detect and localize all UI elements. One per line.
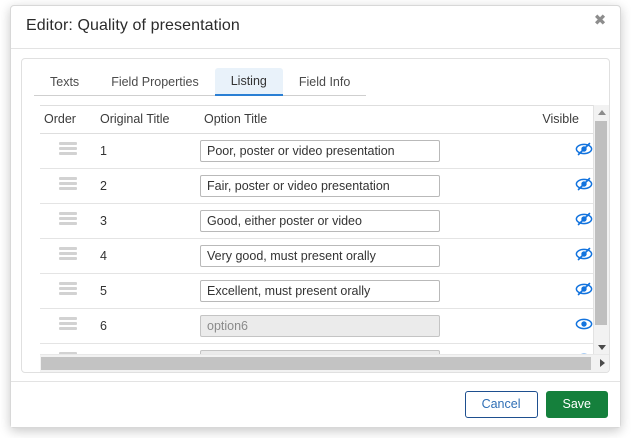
eye-slash-icon[interactable] [575,282,593,301]
drag-handle-icon[interactable] [59,313,77,334]
options-table: Order Original Title Option Title Visibl… [40,105,593,354]
option-title-cell [200,204,517,239]
dialog-title: Editor: Quality of presentation [26,17,240,35]
header-original-title: Original Title [96,106,200,134]
option-title-cell [200,309,517,344]
eye-icon[interactable] [575,317,593,336]
save-button[interactable]: Save [546,391,609,419]
original-title-cell: 3 [96,204,200,239]
scroll-right-icon[interactable] [600,359,605,367]
original-title-value: 6 [96,319,200,333]
table-row: 7 [40,344,593,355]
drag-handle-icon[interactable] [59,208,77,229]
cancel-button[interactable]: Cancel [465,391,538,419]
table-header-row: Order Original Title Option Title Visibl… [40,106,593,134]
option-title-input[interactable] [200,210,440,232]
header-order: Order [40,106,96,134]
visible-cell [517,309,593,344]
visible-cell [517,239,593,274]
original-title-cell: 4 [96,239,200,274]
visible-cell [517,274,593,309]
drag-handle-cell [40,344,96,355]
horizontal-scroll-thumb[interactable] [41,357,591,370]
tab-texts[interactable]: Texts [34,69,95,96]
tab-panel: Texts Field Properties Listing Field Inf… [21,58,610,373]
vertical-scrollbar[interactable] [593,105,609,354]
listing-table-region: Order Original Title Option Title Visibl… [22,105,609,354]
header-visible: Visible [517,106,593,134]
option-title-input[interactable] [200,315,440,337]
table-row: 3 [40,204,593,239]
options-table-body: 1234567 [40,134,593,355]
dialog-body: Texts Field Properties Listing Field Inf… [11,49,620,381]
original-title-value: 4 [96,249,200,263]
table-row: 5 [40,274,593,309]
visible-cell [517,134,593,169]
visible-cell [517,204,593,239]
option-title-cell [200,169,517,204]
drag-handle-cell [40,204,96,239]
drag-handle-cell [40,309,96,344]
option-title-input[interactable] [200,245,440,267]
option-title-input[interactable] [200,140,440,162]
table-row: 4 [40,239,593,274]
tab-listing[interactable]: Listing [215,68,283,96]
header-option-title: Option Title [200,106,517,134]
editor-dialog: Editor: Quality of presentation ✖ Texts … [10,5,621,428]
close-icon[interactable]: ✖ [591,12,609,30]
original-title-cell: 6 [96,309,200,344]
drag-handle-icon[interactable] [59,278,77,299]
listing-table-scroll: Order Original Title Option Title Visibl… [40,105,593,354]
drag-handle-cell [40,134,96,169]
eye-slash-icon[interactable] [575,247,593,266]
tab-bar: Texts Field Properties Listing Field Inf… [22,59,609,96]
table-row: 6 [40,309,593,344]
visible-cell [517,344,593,355]
original-title-cell: 7 [96,344,200,355]
eye-slash-icon[interactable] [575,142,593,161]
option-title-cell [200,344,517,355]
table-row: 2 [40,169,593,204]
original-title-value: 5 [96,284,200,298]
original-title-value: 1 [96,144,200,158]
option-title-input[interactable] [200,280,440,302]
dialog-footer: Cancel Save [11,381,620,427]
option-title-input[interactable] [200,175,440,197]
original-title-cell: 2 [96,169,200,204]
original-title-value: 3 [96,214,200,228]
horizontal-scrollbar[interactable] [40,354,609,372]
original-title-value: 2 [96,179,200,193]
vertical-scroll-thumb[interactable] [595,121,607,325]
drag-handle-icon[interactable] [59,138,77,159]
original-title-cell: 5 [96,274,200,309]
scroll-up-icon[interactable] [594,105,609,119]
scroll-down-icon[interactable] [594,340,609,354]
eye-slash-icon[interactable] [575,177,593,196]
option-title-cell [200,239,517,274]
tab-field-properties[interactable]: Field Properties [95,69,215,96]
drag-handle-cell [40,169,96,204]
tab-field-info[interactable]: Field Info [283,69,366,96]
table-row: 1 [40,134,593,169]
drag-handle-cell [40,239,96,274]
eye-slash-icon[interactable] [575,212,593,231]
visible-cell [517,169,593,204]
option-title-cell [200,134,517,169]
option-title-cell [200,274,517,309]
drag-handle-cell [40,274,96,309]
original-title-cell: 1 [96,134,200,169]
dialog-header: Editor: Quality of presentation ✖ [11,6,620,49]
drag-handle-icon[interactable] [59,243,77,264]
drag-handle-icon[interactable] [59,173,77,194]
